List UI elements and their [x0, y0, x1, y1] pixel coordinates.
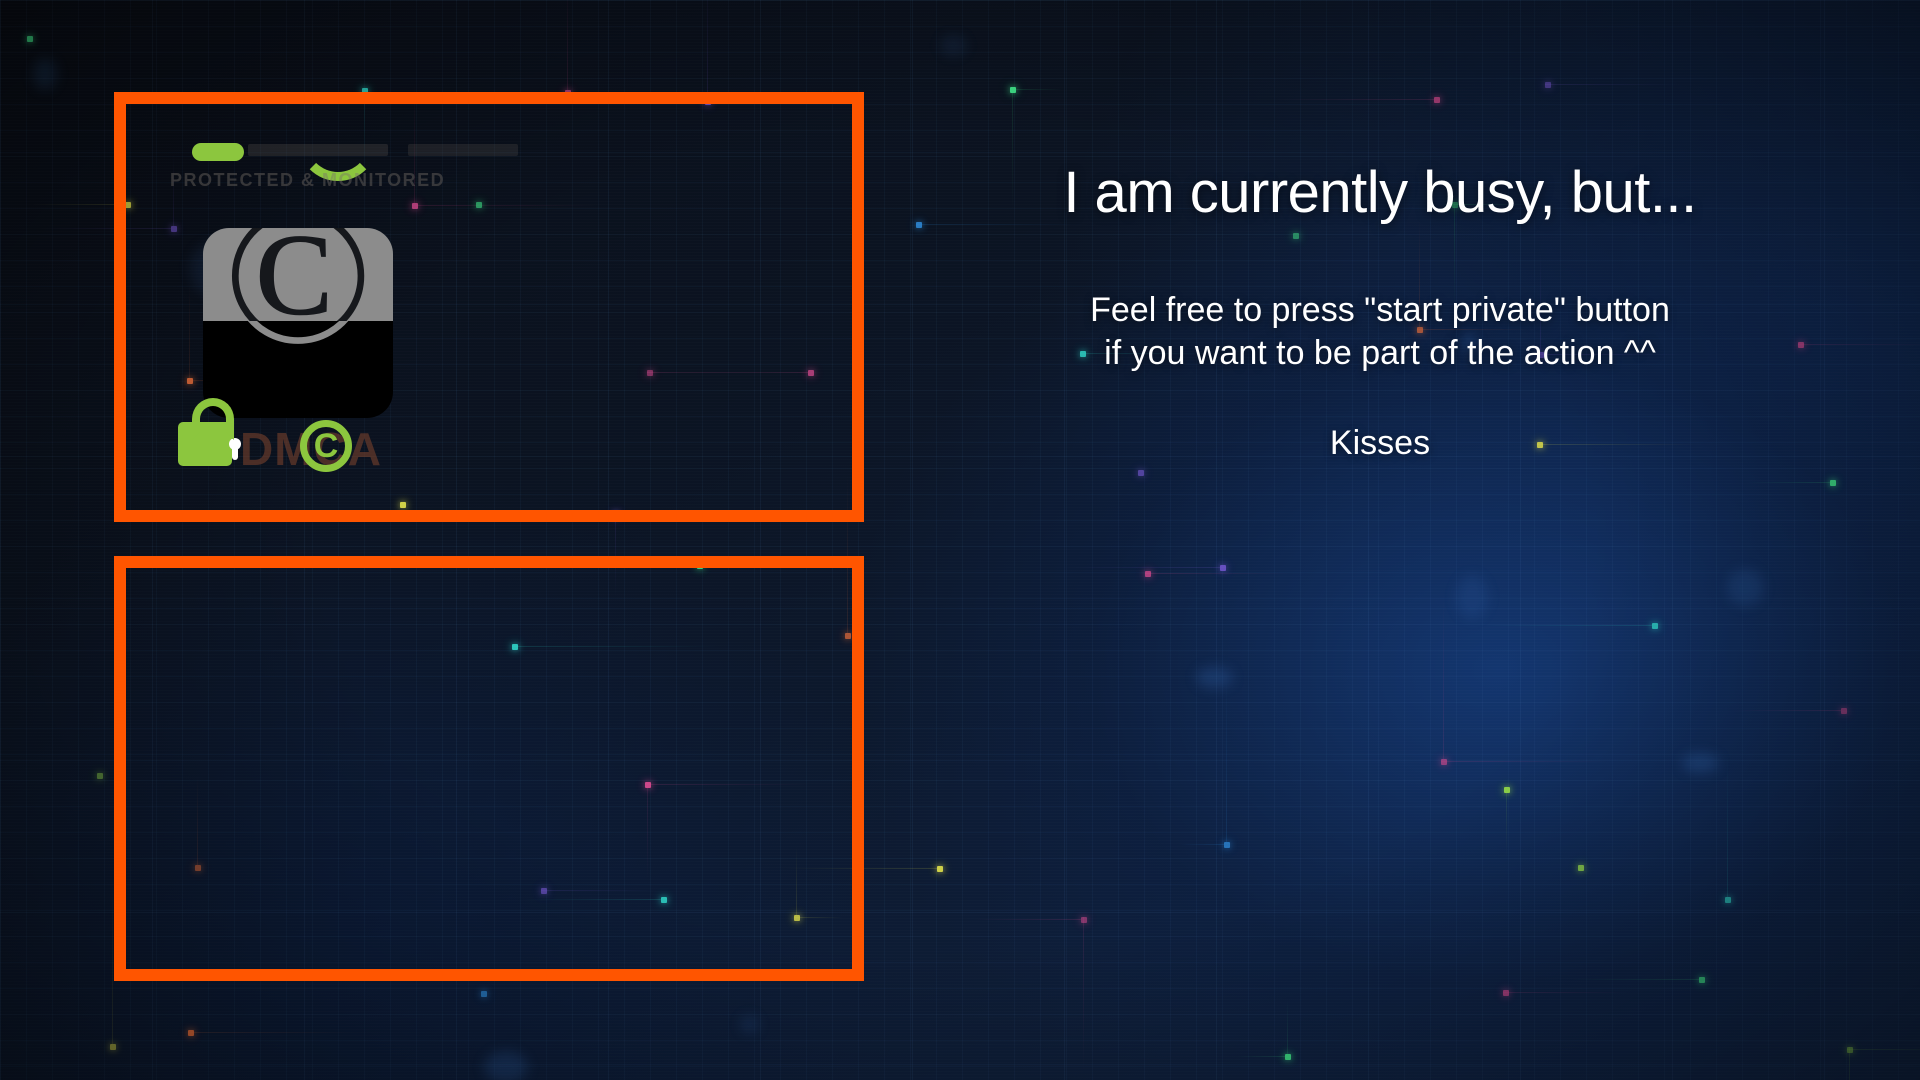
background-bloom — [1682, 753, 1719, 773]
circuit-node — [1830, 480, 1836, 486]
circuit-node — [188, 1030, 194, 1036]
copyright-symbol-tile: © © — [203, 228, 393, 418]
video-placeholder-bottom[interactable] — [114, 556, 864, 981]
circuit-node — [481, 991, 487, 997]
circuit-trace — [1571, 979, 1699, 980]
circuit-trace — [1746, 482, 1830, 483]
circuit-node — [1434, 97, 1440, 103]
circuit-trace — [1503, 992, 1629, 993]
circuit-trace — [1727, 751, 1728, 897]
circuit-trace — [1849, 1047, 1850, 1080]
background-bloom — [940, 35, 967, 56]
message-body: Feel free to press "start private" butto… — [880, 289, 1880, 376]
circuit-node — [1725, 897, 1731, 903]
circuit-node — [1010, 87, 1016, 93]
circuit-trace — [1847, 1049, 1920, 1050]
circuit-trace — [1506, 787, 1507, 858]
background-bloom — [1727, 569, 1764, 606]
circuit-trace — [1010, 89, 1063, 90]
circuit-trace — [1545, 84, 1682, 85]
circuit-trace — [188, 1032, 355, 1033]
circuit-node — [1504, 787, 1510, 793]
circuit-node — [1285, 1054, 1291, 1060]
circuit-trace — [1441, 761, 1611, 762]
circuit-trace — [1481, 625, 1652, 626]
circuit-trace — [1226, 669, 1227, 842]
padlock-shackle-icon — [192, 398, 234, 440]
circuit-node — [27, 36, 33, 42]
circuit-trace — [1443, 594, 1444, 759]
dmca-green-pill-icon — [192, 143, 244, 161]
circuit-node — [1652, 623, 1658, 629]
circuit-node — [937, 866, 943, 872]
dmca-protection-badge[interactable]: PROTECTED & MONITORED © © DMCA C — [148, 126, 568, 481]
circuit-node — [1841, 708, 1847, 714]
dmca-header-ghost-bar-2 — [408, 144, 518, 156]
dmca-wordmark-row: DMCA C — [148, 416, 568, 478]
screen-root: PROTECTED & MONITORED © © DMCA C — [0, 0, 1920, 1080]
circuit-node — [1081, 917, 1087, 923]
circuit-node — [1578, 865, 1584, 871]
dmca-badge-header — [148, 126, 568, 174]
background-bloom — [1196, 667, 1233, 688]
circuit-trace — [112, 879, 113, 1044]
circuit-node — [1441, 759, 1447, 765]
circuit-node — [97, 773, 103, 779]
circuit-trace — [1067, 567, 1220, 568]
copyright-icon: © — [224, 228, 373, 321]
circuit-trace — [707, 0, 708, 99]
circuit-trace — [1145, 573, 1290, 574]
circuit-trace — [1180, 844, 1224, 845]
video-placeholder-top[interactable]: PROTECTED & MONITORED © © DMCA C — [114, 92, 864, 522]
circuit-trace — [1287, 1000, 1288, 1054]
circuit-trace — [1237, 1056, 1285, 1057]
circuit-node — [110, 1044, 116, 1050]
message-headline: I am currently busy, but... — [880, 160, 1880, 227]
dmca-protected-label: PROTECTED & MONITORED — [170, 170, 445, 191]
circuit-node — [1145, 571, 1151, 577]
circuit-node — [1138, 470, 1144, 476]
circuit-node — [1545, 82, 1551, 88]
message-body-line-1: Feel free to press "start private" butto… — [880, 289, 1880, 333]
message-body-line-2: if you want to be part of the action ^^ — [880, 332, 1880, 376]
copyright-tile-lower-half: © — [203, 321, 393, 418]
circuit-node — [1699, 977, 1705, 983]
circuit-trace — [1730, 710, 1841, 711]
background-bloom — [1456, 575, 1488, 619]
circuit-trace — [1083, 917, 1084, 1073]
circuit-trace — [32, 204, 125, 205]
circuit-trace — [567, 0, 568, 90]
background-bloom — [740, 1015, 759, 1034]
copyright-icon-inverted: © — [224, 321, 373, 375]
message-signoff: Kisses — [880, 424, 1880, 463]
circuit-node — [1220, 565, 1226, 571]
circuit-node — [1847, 1047, 1853, 1053]
dmca-copyright-c-letter: C — [300, 420, 352, 472]
circuit-trace — [1273, 99, 1434, 100]
message-panel: I am currently busy, but... Feel free to… — [880, 160, 1880, 463]
circuit-node — [1224, 842, 1230, 848]
background-bloom — [33, 58, 57, 90]
background-bloom — [484, 1051, 528, 1080]
copyright-tile-upper-half: © — [203, 228, 393, 321]
circuit-trace — [973, 919, 1081, 920]
circuit-node — [1503, 990, 1509, 996]
